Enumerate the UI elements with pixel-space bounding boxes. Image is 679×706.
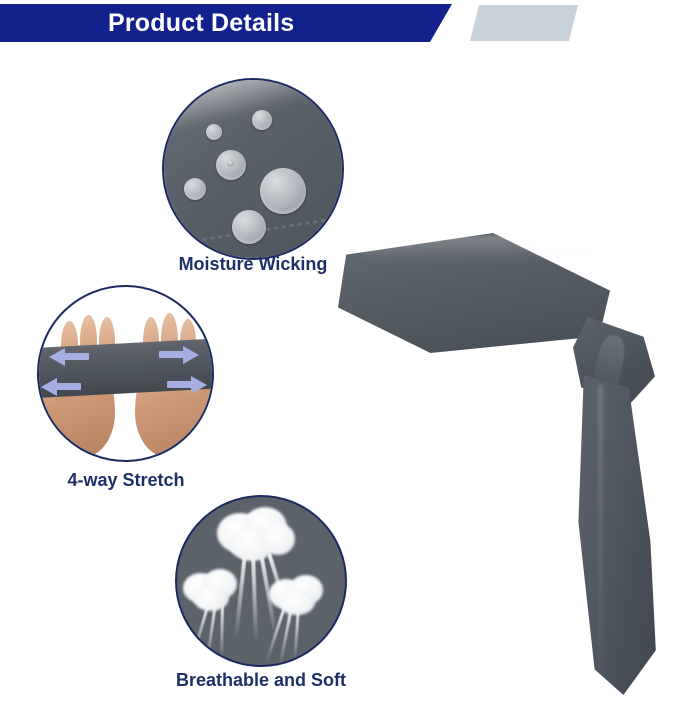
banner-accent-shape — [470, 5, 578, 41]
feature-caption-moisture-wicking: Moisture Wicking — [160, 254, 346, 275]
breathable-and-soft-circle-image — [175, 495, 347, 667]
water-droplet-icon — [206, 124, 222, 140]
header-banner: Product Details — [0, 0, 679, 46]
feature-caption-four-way-stretch: 4-way Stretch — [33, 470, 219, 491]
water-droplet-icon — [184, 178, 206, 200]
headband-tail — [573, 375, 663, 695]
page-title: Product Details — [108, 8, 438, 38]
moisture-wicking-circle-image — [162, 78, 344, 260]
headband-tail-fold — [598, 385, 603, 675]
water-droplet-icon — [252, 110, 272, 130]
water-droplet-icon — [232, 210, 266, 244]
headband-highlight — [348, 235, 598, 261]
four-way-stretch-circle-image — [37, 285, 214, 462]
water-droplet-icon — [260, 168, 306, 214]
water-droplet-icon — [216, 150, 246, 180]
water-droplet-icon — [228, 160, 233, 165]
product-image-headband — [330, 225, 679, 695]
